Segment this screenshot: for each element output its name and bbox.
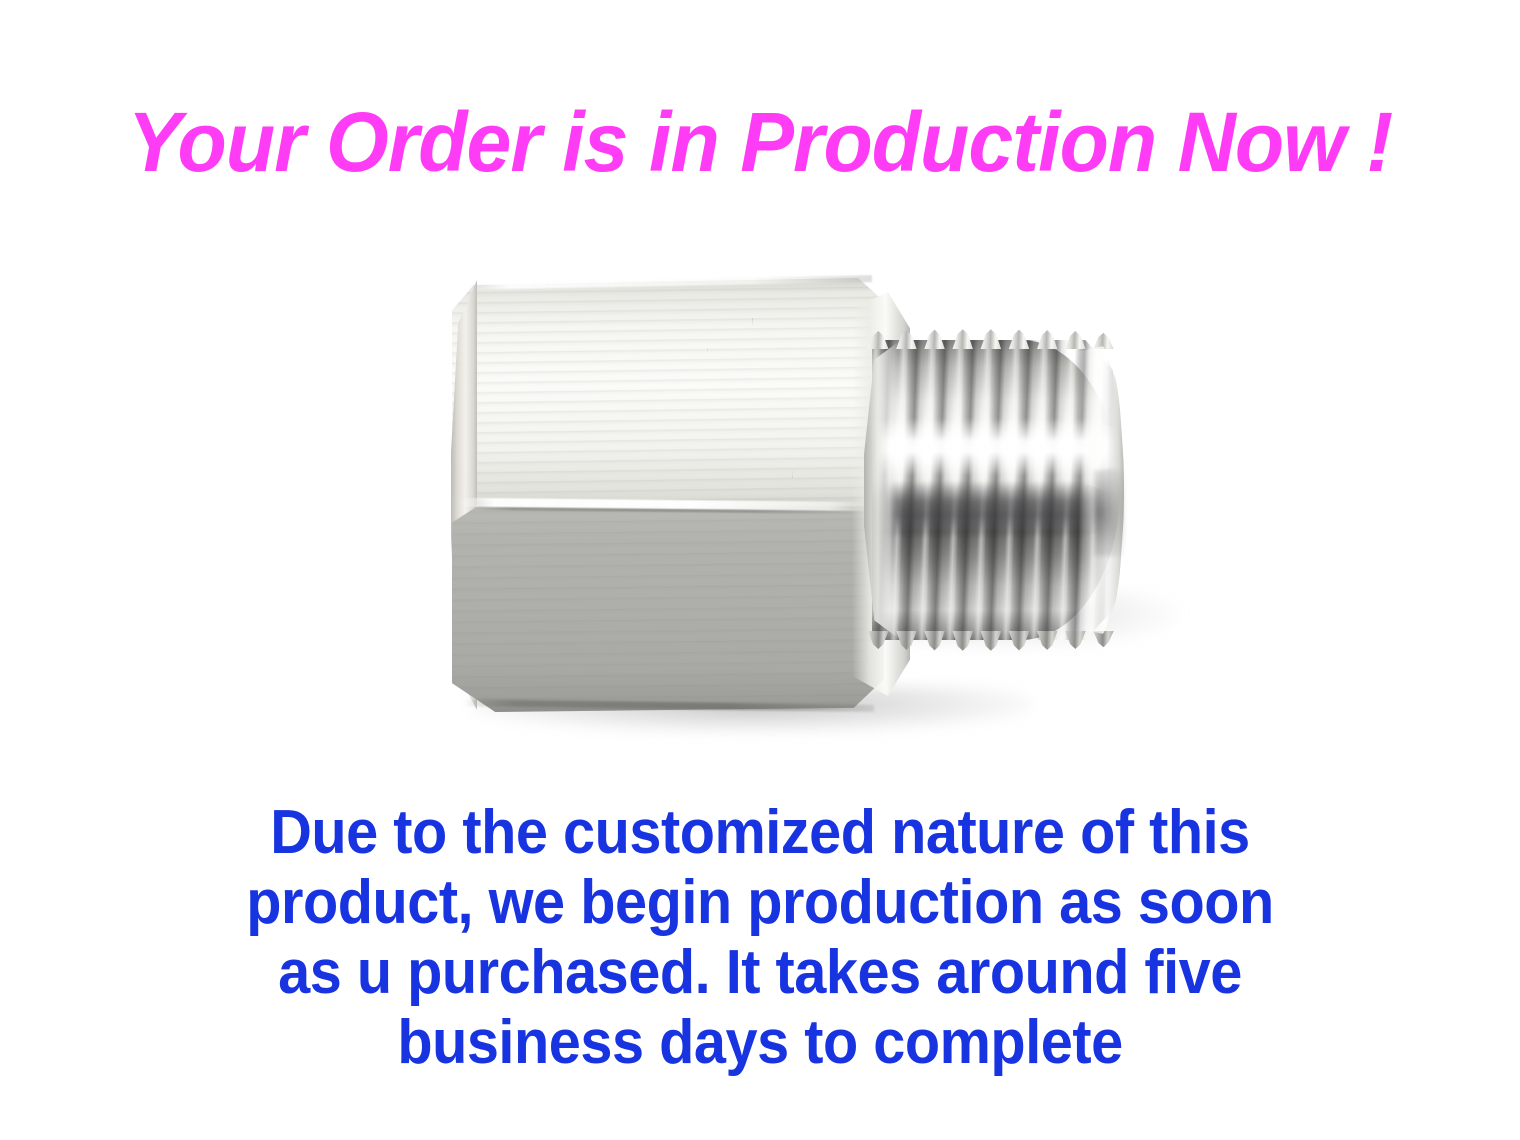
hex-bottom-striations bbox=[452, 506, 884, 712]
notice-line-3: as u purchased. It takes around five bbox=[53, 938, 1467, 1008]
product-image bbox=[0, 230, 1520, 790]
thread-end-cap-shadow bbox=[1094, 470, 1124, 556]
page-title: Your Order is in Production Now ! bbox=[30, 94, 1489, 190]
notice-line-2: product, we begin production as soon bbox=[53, 868, 1467, 938]
promo-poster: Your Order is in Production Now ! bbox=[0, 0, 1520, 1140]
hex-top-scratches bbox=[452, 278, 884, 510]
hex-body bbox=[452, 278, 884, 710]
production-notice: Due to the customized nature of this pro… bbox=[0, 798, 1520, 1078]
threaded-nose bbox=[872, 340, 1120, 640]
notice-line-4: business days to complete bbox=[53, 1008, 1467, 1078]
thread-shadow-band bbox=[872, 482, 1112, 538]
notice-line-1: Due to the customized nature of this bbox=[53, 798, 1467, 868]
